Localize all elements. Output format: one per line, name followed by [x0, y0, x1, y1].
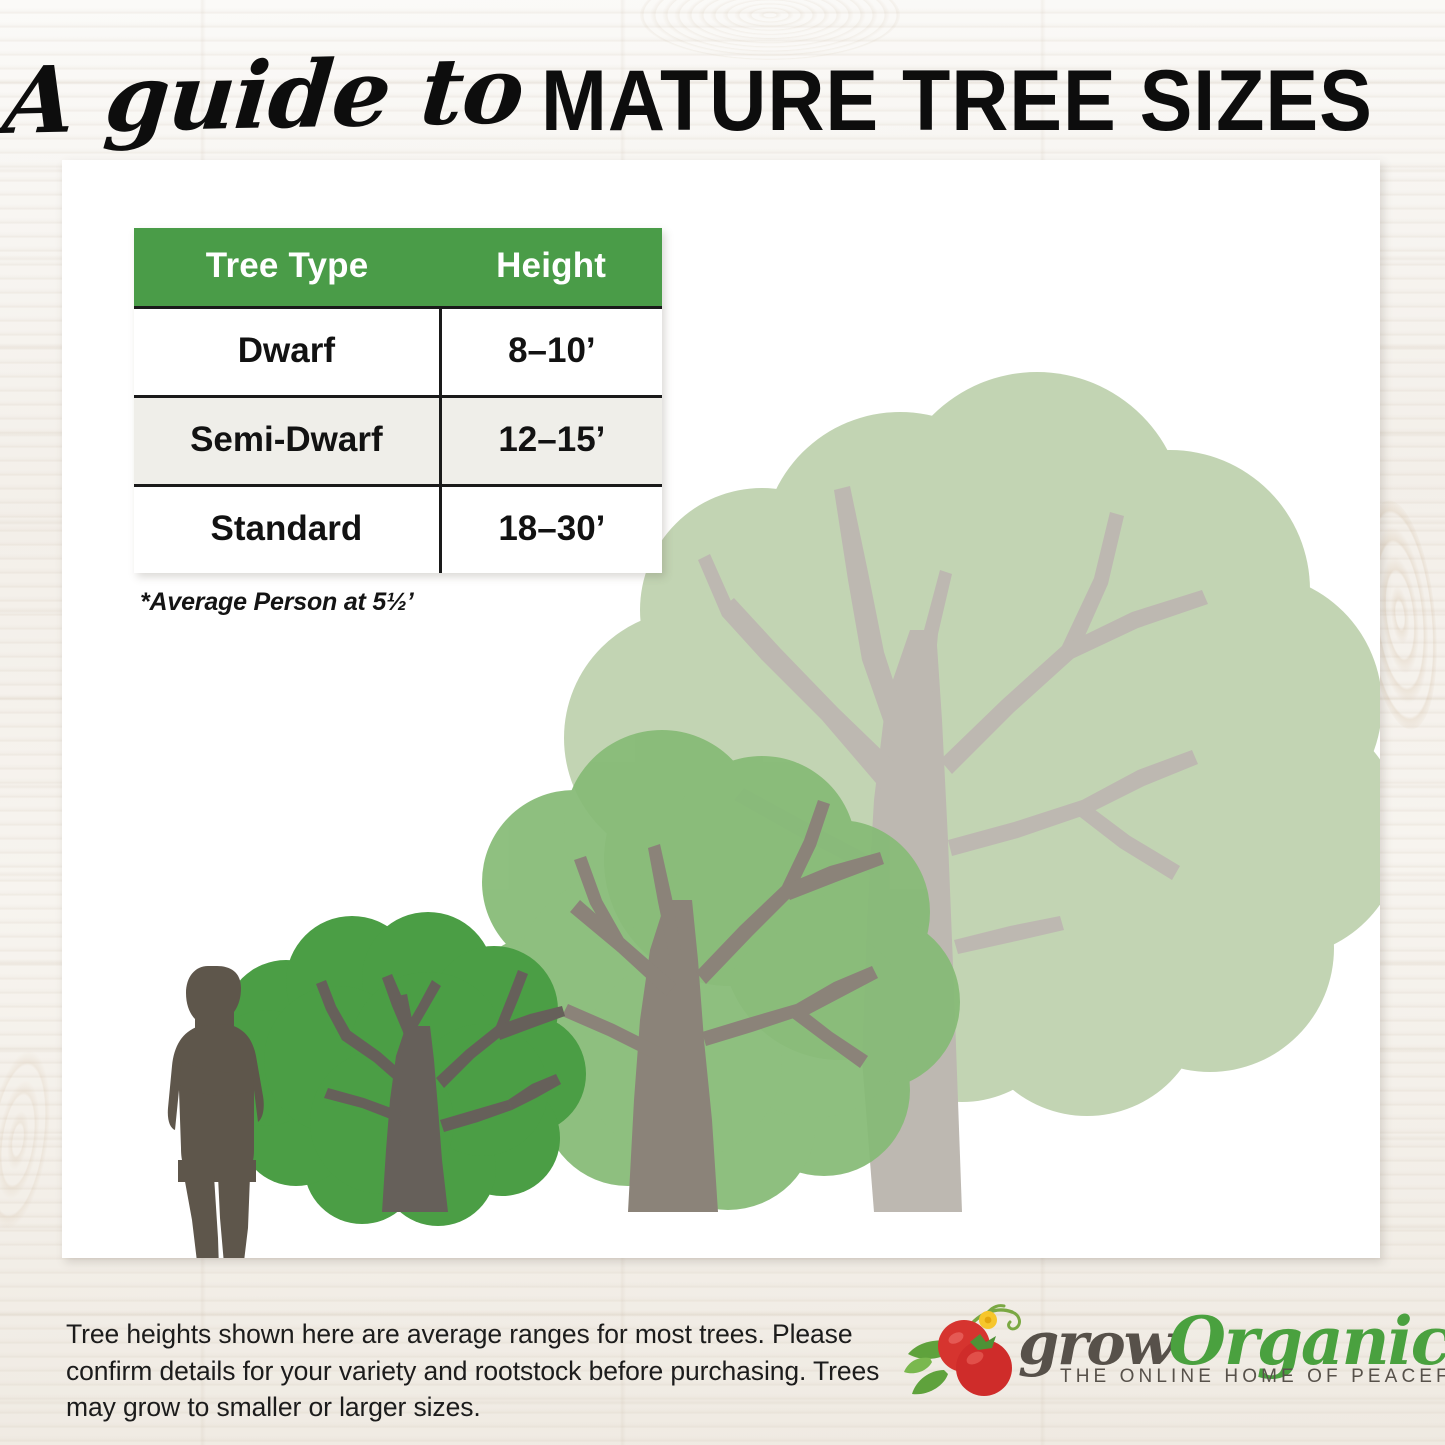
- column-header-tree-type: Tree Type: [134, 228, 440, 308]
- cell-height: 12–15’: [440, 397, 662, 486]
- table-footnote: *Average Person at 5½’: [140, 588, 414, 617]
- tomato-icon: [900, 1298, 1030, 1408]
- page-title: A guide to MATURE TREE SIZES: [0, 46, 1445, 156]
- wood-knot-icon: [0, 1047, 60, 1234]
- cell-tree-type: Semi-Dwarf: [134, 397, 440, 486]
- cell-height: 18–30’: [440, 486, 662, 574]
- title-script-text: A guide to: [0, 44, 527, 147]
- tree-size-table: Tree Type Height Dwarf 8–10’ Semi-Dwarf …: [134, 228, 662, 573]
- cell-tree-type: Dwarf: [134, 308, 440, 397]
- brand-logo[interactable]: growOrganic.COM THE ONLINE HOME OF PEACE…: [900, 1296, 1400, 1420]
- table-row: Dwarf 8–10’: [134, 308, 662, 397]
- brand-tagline: THE ONLINE HOME OF PEACEFUL VALLEY: [1060, 1366, 1445, 1388]
- title-main-text: MATURE TREE SIZES: [541, 58, 1373, 144]
- cell-tree-type: Standard: [134, 486, 440, 574]
- cell-height: 8–10’: [440, 308, 662, 397]
- table-row: Semi-Dwarf 12–15’: [134, 397, 662, 486]
- column-header-height: Height: [440, 228, 662, 308]
- footer-disclaimer: Tree heights shown here are average rang…: [66, 1316, 896, 1426]
- dwarf-tree: [208, 912, 586, 1226]
- table-row: Standard 18–30’: [134, 486, 662, 574]
- infographic-card: Tree Type Height Dwarf 8–10’ Semi-Dwarf …: [62, 160, 1380, 1258]
- blossom-icon: [979, 1311, 997, 1329]
- table-header-row: Tree Type Height: [134, 228, 662, 308]
